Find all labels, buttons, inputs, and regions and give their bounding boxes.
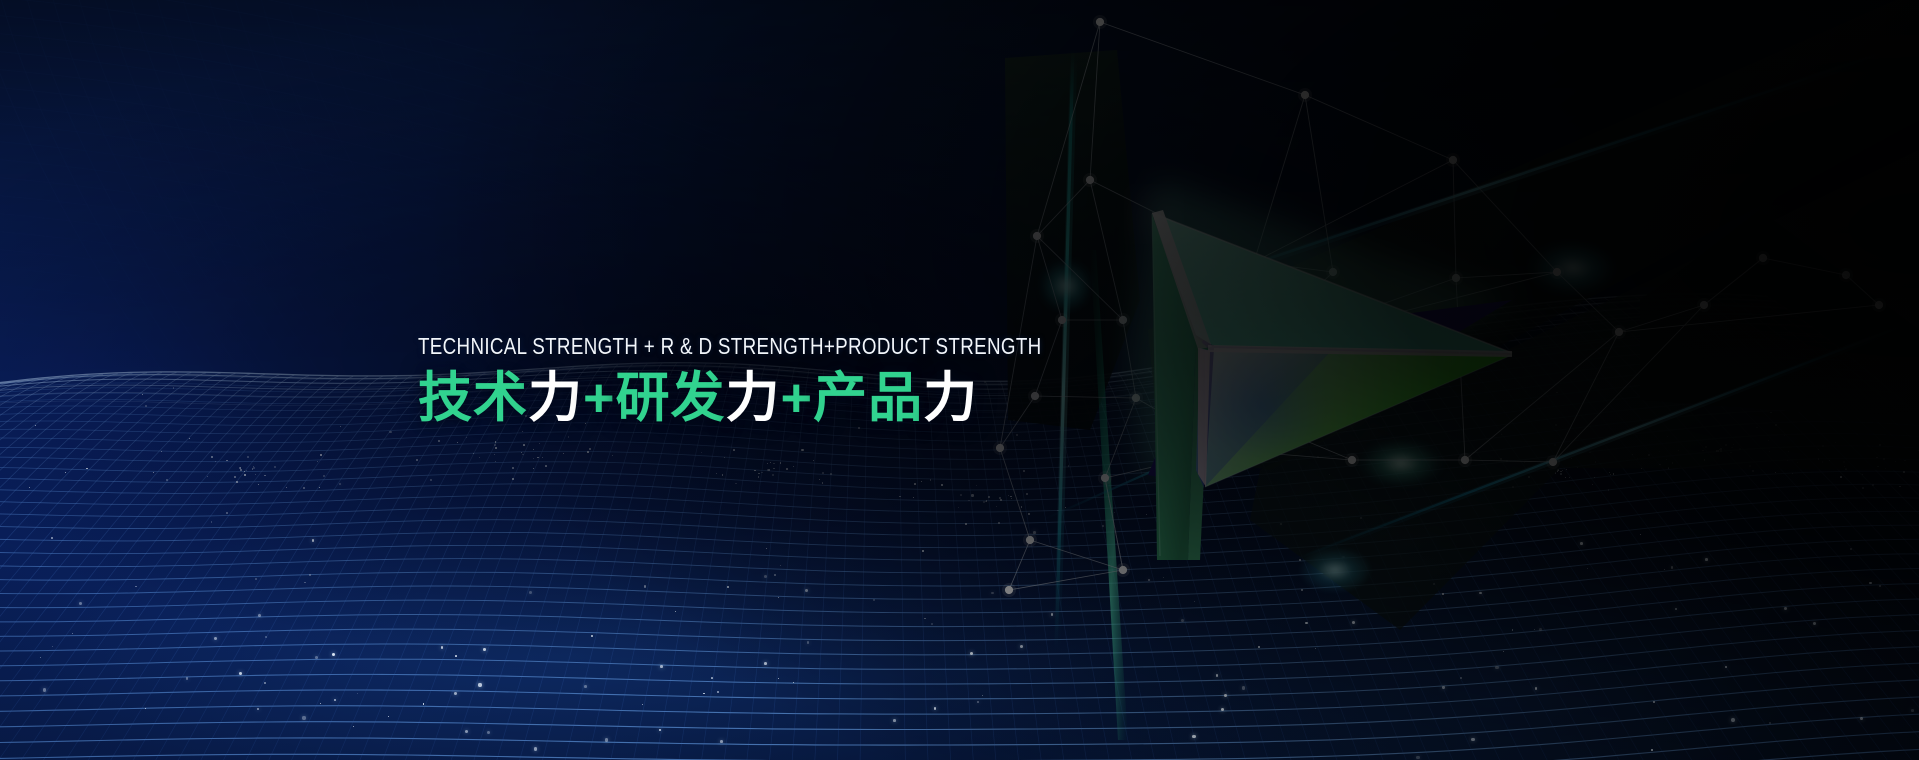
- particle: [805, 589, 808, 592]
- particle: [1720, 448, 1722, 450]
- wire-edge: [1704, 258, 1763, 305]
- particle: [537, 457, 539, 459]
- particle: [539, 443, 540, 444]
- wire-edge: [1000, 448, 1030, 540]
- wire-node: [1086, 176, 1094, 184]
- particle: [735, 483, 737, 485]
- particle: [52, 646, 53, 647]
- particle: [258, 484, 259, 485]
- particle: [1020, 645, 1023, 648]
- particle: [983, 501, 985, 503]
- particle: [589, 448, 590, 449]
- particle: [86, 468, 87, 469]
- particle: [1872, 484, 1874, 486]
- particle: [1280, 523, 1282, 525]
- particle: [1127, 379, 1128, 380]
- particle: [786, 468, 788, 470]
- particle: [1704, 459, 1705, 460]
- particle: [1717, 450, 1718, 451]
- headline-segment-6: 产品: [813, 368, 923, 428]
- particle: [793, 466, 794, 467]
- wire-edge: [1619, 305, 1704, 332]
- wire-node: [1301, 91, 1309, 99]
- green-vertical-beam: [1090, 250, 1128, 740]
- particle: [286, 487, 287, 488]
- particle: [1668, 467, 1670, 469]
- wire-node: [1329, 268, 1337, 276]
- wire-edge: [1105, 450, 1226, 478]
- particle: [304, 582, 306, 584]
- particle: [768, 469, 769, 470]
- particle: [778, 597, 779, 598]
- wire-edge: [1846, 275, 1879, 305]
- particle: [357, 693, 358, 694]
- particle: [1879, 444, 1880, 445]
- particle: [644, 585, 646, 587]
- wire-node: [1248, 346, 1256, 354]
- particle: [1899, 486, 1900, 487]
- particle: [264, 682, 266, 684]
- particle: [813, 460, 814, 461]
- particle: [1756, 427, 1757, 428]
- particle: [1818, 449, 1819, 450]
- particle: [968, 500, 969, 501]
- particle: [161, 451, 162, 452]
- wire-edge: [1252, 272, 1333, 350]
- particle: [1535, 687, 1538, 690]
- particle: [1276, 398, 1277, 399]
- particle: [1664, 569, 1665, 570]
- wire-node: [1005, 586, 1013, 594]
- particle: [211, 456, 213, 458]
- particle: [40, 657, 41, 658]
- particle: [423, 703, 425, 705]
- wire-edge: [1037, 236, 1062, 320]
- wire-edge: [1123, 320, 1136, 398]
- particle: [236, 481, 238, 483]
- particle: [1381, 387, 1383, 389]
- particle: [1702, 450, 1704, 452]
- particle: [758, 476, 760, 478]
- headline-segment-4: 力: [726, 368, 781, 428]
- particle: [153, 472, 154, 473]
- particle: [340, 426, 341, 427]
- particle: [545, 465, 547, 467]
- particle: [1666, 459, 1667, 460]
- particle: [494, 444, 496, 446]
- particle: [244, 474, 246, 476]
- particle: [1659, 464, 1660, 465]
- logo-face-right: [1205, 348, 1512, 487]
- particle: [240, 467, 242, 469]
- wire-edge: [1456, 278, 1465, 460]
- wire-edge: [1136, 398, 1226, 450]
- wire-edge: [1037, 22, 1100, 236]
- particle: [253, 467, 255, 469]
- headline-segment-2: +: [583, 368, 616, 428]
- particle: [1705, 558, 1708, 561]
- particle: [1524, 462, 1525, 463]
- particle: [587, 451, 589, 453]
- diagonal-cyan-beam-lower: [1290, 324, 1907, 563]
- particle: [1769, 451, 1770, 452]
- particle: [934, 707, 937, 710]
- wire-edge: [1465, 332, 1619, 460]
- particle: [1028, 513, 1030, 515]
- particle: [1216, 674, 1219, 677]
- logo-edge-inner-left: [1198, 348, 1210, 487]
- wire-edge: [1100, 22, 1305, 95]
- particle: [29, 487, 30, 488]
- particle: [1528, 476, 1530, 478]
- particle: [1860, 717, 1863, 720]
- particle: [830, 473, 832, 475]
- particle: [533, 468, 534, 469]
- particle: [320, 454, 322, 456]
- particle: [264, 475, 265, 476]
- particle: [1720, 450, 1722, 452]
- particle: [479, 457, 480, 458]
- particle: [1792, 473, 1793, 474]
- particle: [1731, 718, 1735, 722]
- logo-edge-spine: [1152, 210, 1212, 349]
- particle: [523, 444, 525, 446]
- particle: [819, 479, 820, 480]
- particle: [529, 591, 532, 594]
- particle: [958, 507, 959, 508]
- wire-node: [1842, 271, 1850, 279]
- particle: [921, 481, 922, 482]
- particle: [1242, 686, 1246, 690]
- wire-edge: [1030, 540, 1123, 570]
- particle: [780, 565, 781, 566]
- wire-node: [1132, 394, 1140, 402]
- particle: [1433, 583, 1435, 585]
- wire-node: [1033, 232, 1041, 240]
- particle: [1671, 566, 1674, 569]
- particle: [1500, 458, 1502, 460]
- particle: [1580, 542, 1583, 545]
- particle: [215, 461, 216, 462]
- particle: [1788, 451, 1789, 452]
- particle: [135, 586, 137, 588]
- particle: [1479, 592, 1482, 595]
- particle: [1725, 666, 1727, 668]
- particle: [388, 716, 389, 717]
- particle: [315, 656, 318, 659]
- particle: [1000, 499, 1002, 501]
- particle: [1904, 460, 1905, 461]
- logo-inner-blob-blue: [1190, 349, 1334, 461]
- particle: [720, 740, 723, 743]
- particle: [793, 682, 794, 683]
- particle: [1733, 444, 1734, 445]
- particle: [605, 738, 609, 742]
- wire-edge: [1453, 160, 1456, 278]
- particle: [1555, 472, 1557, 474]
- particle: [1557, 471, 1558, 472]
- particle: [1770, 412, 1771, 413]
- particle: [495, 441, 497, 443]
- wire-node: [1222, 446, 1230, 454]
- flare-lower-right: [1358, 438, 1444, 488]
- particle: [893, 719, 896, 722]
- wire-node: [1700, 301, 1708, 309]
- wire-edge: [1453, 160, 1557, 272]
- particle: [389, 431, 391, 433]
- particle: [1888, 415, 1889, 416]
- particle: [302, 716, 305, 719]
- particle: [65, 472, 66, 473]
- wire-edge: [1090, 180, 1123, 320]
- particle: [1895, 461, 1896, 462]
- particle: [1501, 434, 1502, 435]
- particle: [1512, 486, 1514, 488]
- logo-edge-highlight-bottom: [1205, 355, 1512, 487]
- particle: [711, 677, 713, 679]
- particle: [1534, 629, 1535, 630]
- particle: [1068, 465, 1070, 467]
- particle: [323, 475, 325, 477]
- wire-edge: [1252, 350, 1280, 430]
- logo-inner-blob-green: [1264, 356, 1376, 440]
- dark-peak-silhouette: [1640, 210, 1919, 420]
- particle: [1506, 460, 1508, 462]
- wire-node: [1276, 426, 1284, 434]
- particle: [226, 460, 228, 462]
- particle: [1632, 454, 1634, 456]
- particle: [1183, 412, 1185, 414]
- particle: [780, 462, 781, 463]
- particle: [873, 599, 875, 601]
- headline-segment-7: 力: [923, 368, 978, 428]
- particle: [1752, 470, 1754, 472]
- particle: [1869, 582, 1871, 584]
- wire-edge: [1280, 430, 1352, 460]
- particle: [522, 454, 523, 455]
- particle: [716, 473, 717, 474]
- vertical-cyan-beam: [1055, 50, 1075, 650]
- particle: [1569, 477, 1571, 479]
- particle: [1818, 458, 1819, 459]
- flare-left-beam: [1038, 258, 1094, 314]
- particle: [722, 474, 723, 475]
- particle: [970, 652, 973, 655]
- particle: [145, 708, 146, 709]
- hero-banner: TECHNICAL STRENGTH + R & D STRENGTH+PROD…: [0, 0, 1919, 760]
- headline-segment-0: 技术: [418, 368, 528, 428]
- particle: [770, 462, 771, 463]
- particle: [1845, 468, 1847, 470]
- particle: [998, 522, 1000, 524]
- particle: [542, 457, 543, 458]
- particle: [1299, 559, 1301, 561]
- particle: [1021, 506, 1023, 508]
- particle: [1637, 458, 1638, 459]
- particle: [51, 537, 53, 539]
- particle: [226, 512, 228, 514]
- wire-edge: [1254, 95, 1305, 262]
- particle: [1033, 531, 1036, 534]
- particle: [1883, 458, 1884, 459]
- particle: [1442, 593, 1444, 595]
- particle: [1471, 738, 1474, 741]
- particle: [1877, 466, 1879, 468]
- particle: [1813, 622, 1816, 625]
- particle: [430, 479, 432, 481]
- hero-headline: 技术力+研发力+产品力: [418, 368, 1038, 428]
- particle: [1787, 460, 1788, 461]
- particle: [234, 476, 236, 478]
- particle: [1342, 556, 1345, 559]
- particle: [1587, 568, 1588, 569]
- particle: [35, 425, 37, 427]
- wire-node: [1096, 18, 1104, 26]
- particle: [1609, 472, 1610, 473]
- particle: [1769, 722, 1771, 724]
- dark-panel-wedge-far-right: [1250, 150, 1919, 630]
- particle: [1192, 735, 1195, 738]
- wire-edge: [1553, 305, 1704, 462]
- hero-text-block: TECHNICAL STRENGTH + R & D STRENGTH+PROD…: [418, 332, 1038, 428]
- particle: [761, 472, 762, 473]
- particle: [1555, 424, 1557, 426]
- particle: [1667, 436, 1668, 437]
- particle: [339, 483, 341, 485]
- particle: [1876, 457, 1877, 458]
- particle: [1221, 708, 1224, 711]
- dark-panel-diagonal-right: [1148, 0, 1919, 470]
- particle: [1659, 451, 1660, 452]
- flare-right-beam: [1528, 240, 1618, 296]
- particle: [1911, 709, 1914, 712]
- particle: [965, 523, 967, 525]
- particle: [931, 623, 933, 625]
- wire-edge: [1465, 460, 1553, 462]
- particle: [465, 730, 468, 733]
- particle: [1301, 589, 1303, 591]
- wire-edge: [1009, 570, 1123, 590]
- logo-face-top: [1152, 213, 1512, 353]
- particle: [1565, 477, 1567, 479]
- particle: [173, 387, 174, 388]
- wire-edge: [1037, 236, 1123, 320]
- particle: [766, 548, 767, 549]
- particle: [466, 437, 467, 438]
- particle: [455, 655, 457, 657]
- particle: [1862, 474, 1864, 476]
- particle: [1844, 466, 1845, 467]
- particle: [353, 726, 354, 727]
- particle: [257, 708, 259, 710]
- particle: [1114, 512, 1115, 513]
- particle: [473, 453, 474, 454]
- particle: [1678, 450, 1679, 451]
- wire-edge: [1105, 478, 1123, 570]
- particle: [1442, 686, 1444, 688]
- particle: [1023, 470, 1025, 472]
- particle: [1065, 507, 1066, 508]
- particle: [1556, 392, 1557, 393]
- particle: [1902, 403, 1903, 404]
- particle: [495, 447, 497, 449]
- particle: [494, 454, 495, 455]
- particle: [252, 468, 254, 470]
- particle: [801, 449, 803, 451]
- particle: [642, 704, 643, 705]
- particle: [438, 440, 440, 442]
- wire-edge: [1456, 272, 1557, 278]
- wire-edge: [1553, 332, 1619, 462]
- particle: [960, 494, 962, 496]
- particle: [1577, 467, 1579, 469]
- particle: [1554, 444, 1556, 446]
- particle: [512, 467, 514, 469]
- particle: [914, 483, 916, 485]
- particle: [334, 699, 336, 701]
- particle: [244, 471, 245, 472]
- particle: [1305, 622, 1307, 624]
- particle: [1008, 495, 1009, 496]
- particle: [1495, 666, 1498, 669]
- wire-node: [996, 444, 1004, 452]
- diagonal-cyan-beam-right: [1150, 53, 1881, 300]
- particle: [1739, 448, 1741, 450]
- particle: [303, 487, 305, 489]
- particle: [758, 473, 760, 475]
- particle: [584, 685, 587, 688]
- particle: [1705, 446, 1707, 448]
- particle: [1589, 452, 1591, 454]
- particle: [1594, 477, 1595, 478]
- particle: [416, 459, 417, 460]
- particle: [253, 466, 254, 467]
- wire-edge: [1009, 540, 1030, 590]
- wire-node: [1461, 456, 1469, 464]
- wire-node: [1615, 328, 1623, 336]
- particle: [1560, 471, 1562, 473]
- particle: [441, 646, 444, 649]
- particle: [214, 637, 217, 640]
- wire-node: [1026, 536, 1034, 544]
- particle: [922, 550, 924, 552]
- particle: [79, 602, 82, 605]
- particle: [767, 469, 768, 470]
- wire-edge: [1305, 95, 1333, 272]
- particle: [1181, 619, 1184, 622]
- particle: [312, 539, 314, 541]
- particle: [478, 683, 481, 686]
- particle: [239, 672, 242, 675]
- particle: [1835, 442, 1836, 443]
- particle: [1775, 472, 1776, 473]
- particle: [211, 521, 212, 522]
- wire-edge: [1090, 22, 1100, 180]
- particle: [534, 747, 537, 750]
- particle: [522, 431, 523, 432]
- wire-edge: [1090, 180, 1254, 262]
- particle: [1051, 613, 1053, 615]
- particle: [332, 653, 335, 656]
- wire-node: [1759, 254, 1767, 262]
- particle: [1862, 487, 1864, 489]
- particle: [1641, 468, 1642, 469]
- particle: [772, 474, 774, 476]
- particle: [717, 691, 719, 693]
- particle: [1148, 579, 1151, 582]
- particle: [1608, 489, 1610, 491]
- wire-edge: [1252, 262, 1254, 350]
